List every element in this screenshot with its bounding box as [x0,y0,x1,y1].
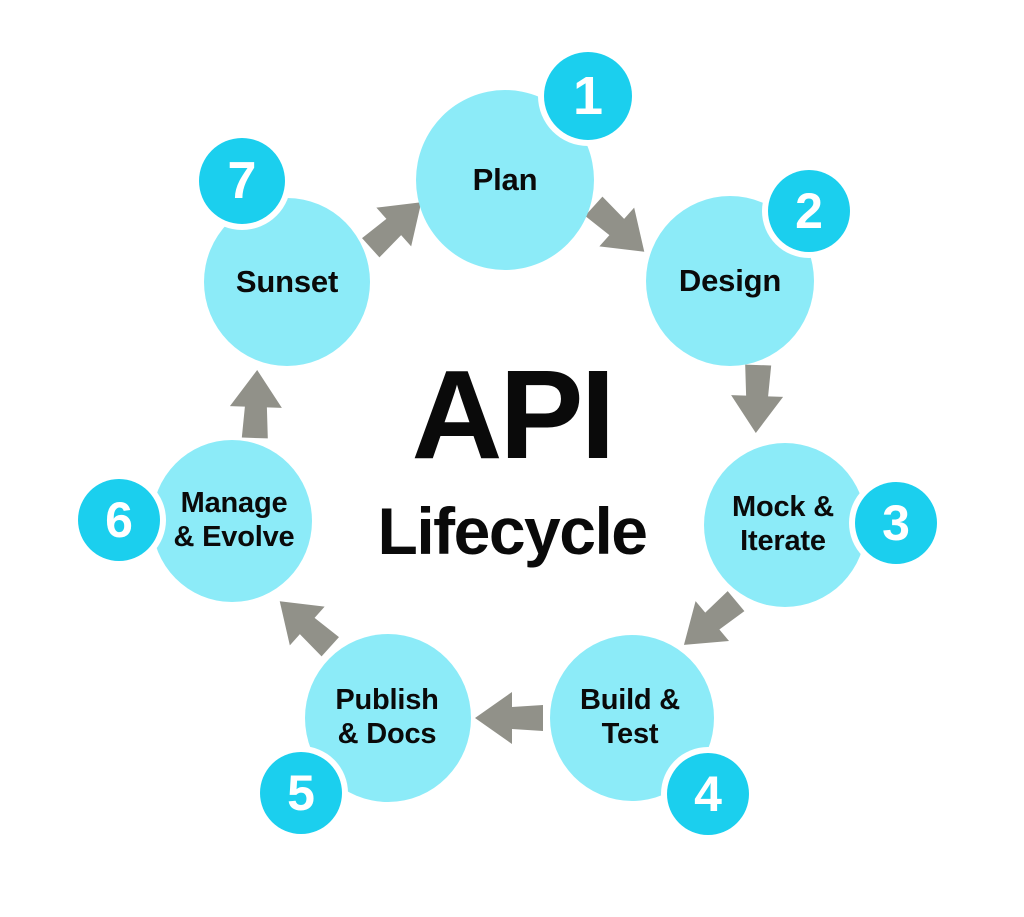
step-badge-6[interactable] [78,479,160,561]
step-badge-5[interactable] [260,752,342,834]
step-badge-2[interactable] [768,170,850,252]
arrow-manage-to-sunset [229,369,283,439]
step-badge-1[interactable] [544,52,632,140]
diagram-canvas [0,0,1024,917]
step-badge-3[interactable] [855,482,937,564]
node-circle-mock-iterate[interactable] [704,443,866,607]
step-badge-4[interactable] [667,753,749,835]
arrow-build-to-publish [475,692,543,744]
arrow-publish-to-manage [262,582,347,666]
step-badge-7[interactable] [199,138,285,224]
node-circle-manage-evolve[interactable] [152,440,312,602]
api-lifecycle-diagram: PlanDesignMock & IterateBuild & TestPubl… [0,0,1024,917]
arrow-design-to-mock [730,364,784,434]
